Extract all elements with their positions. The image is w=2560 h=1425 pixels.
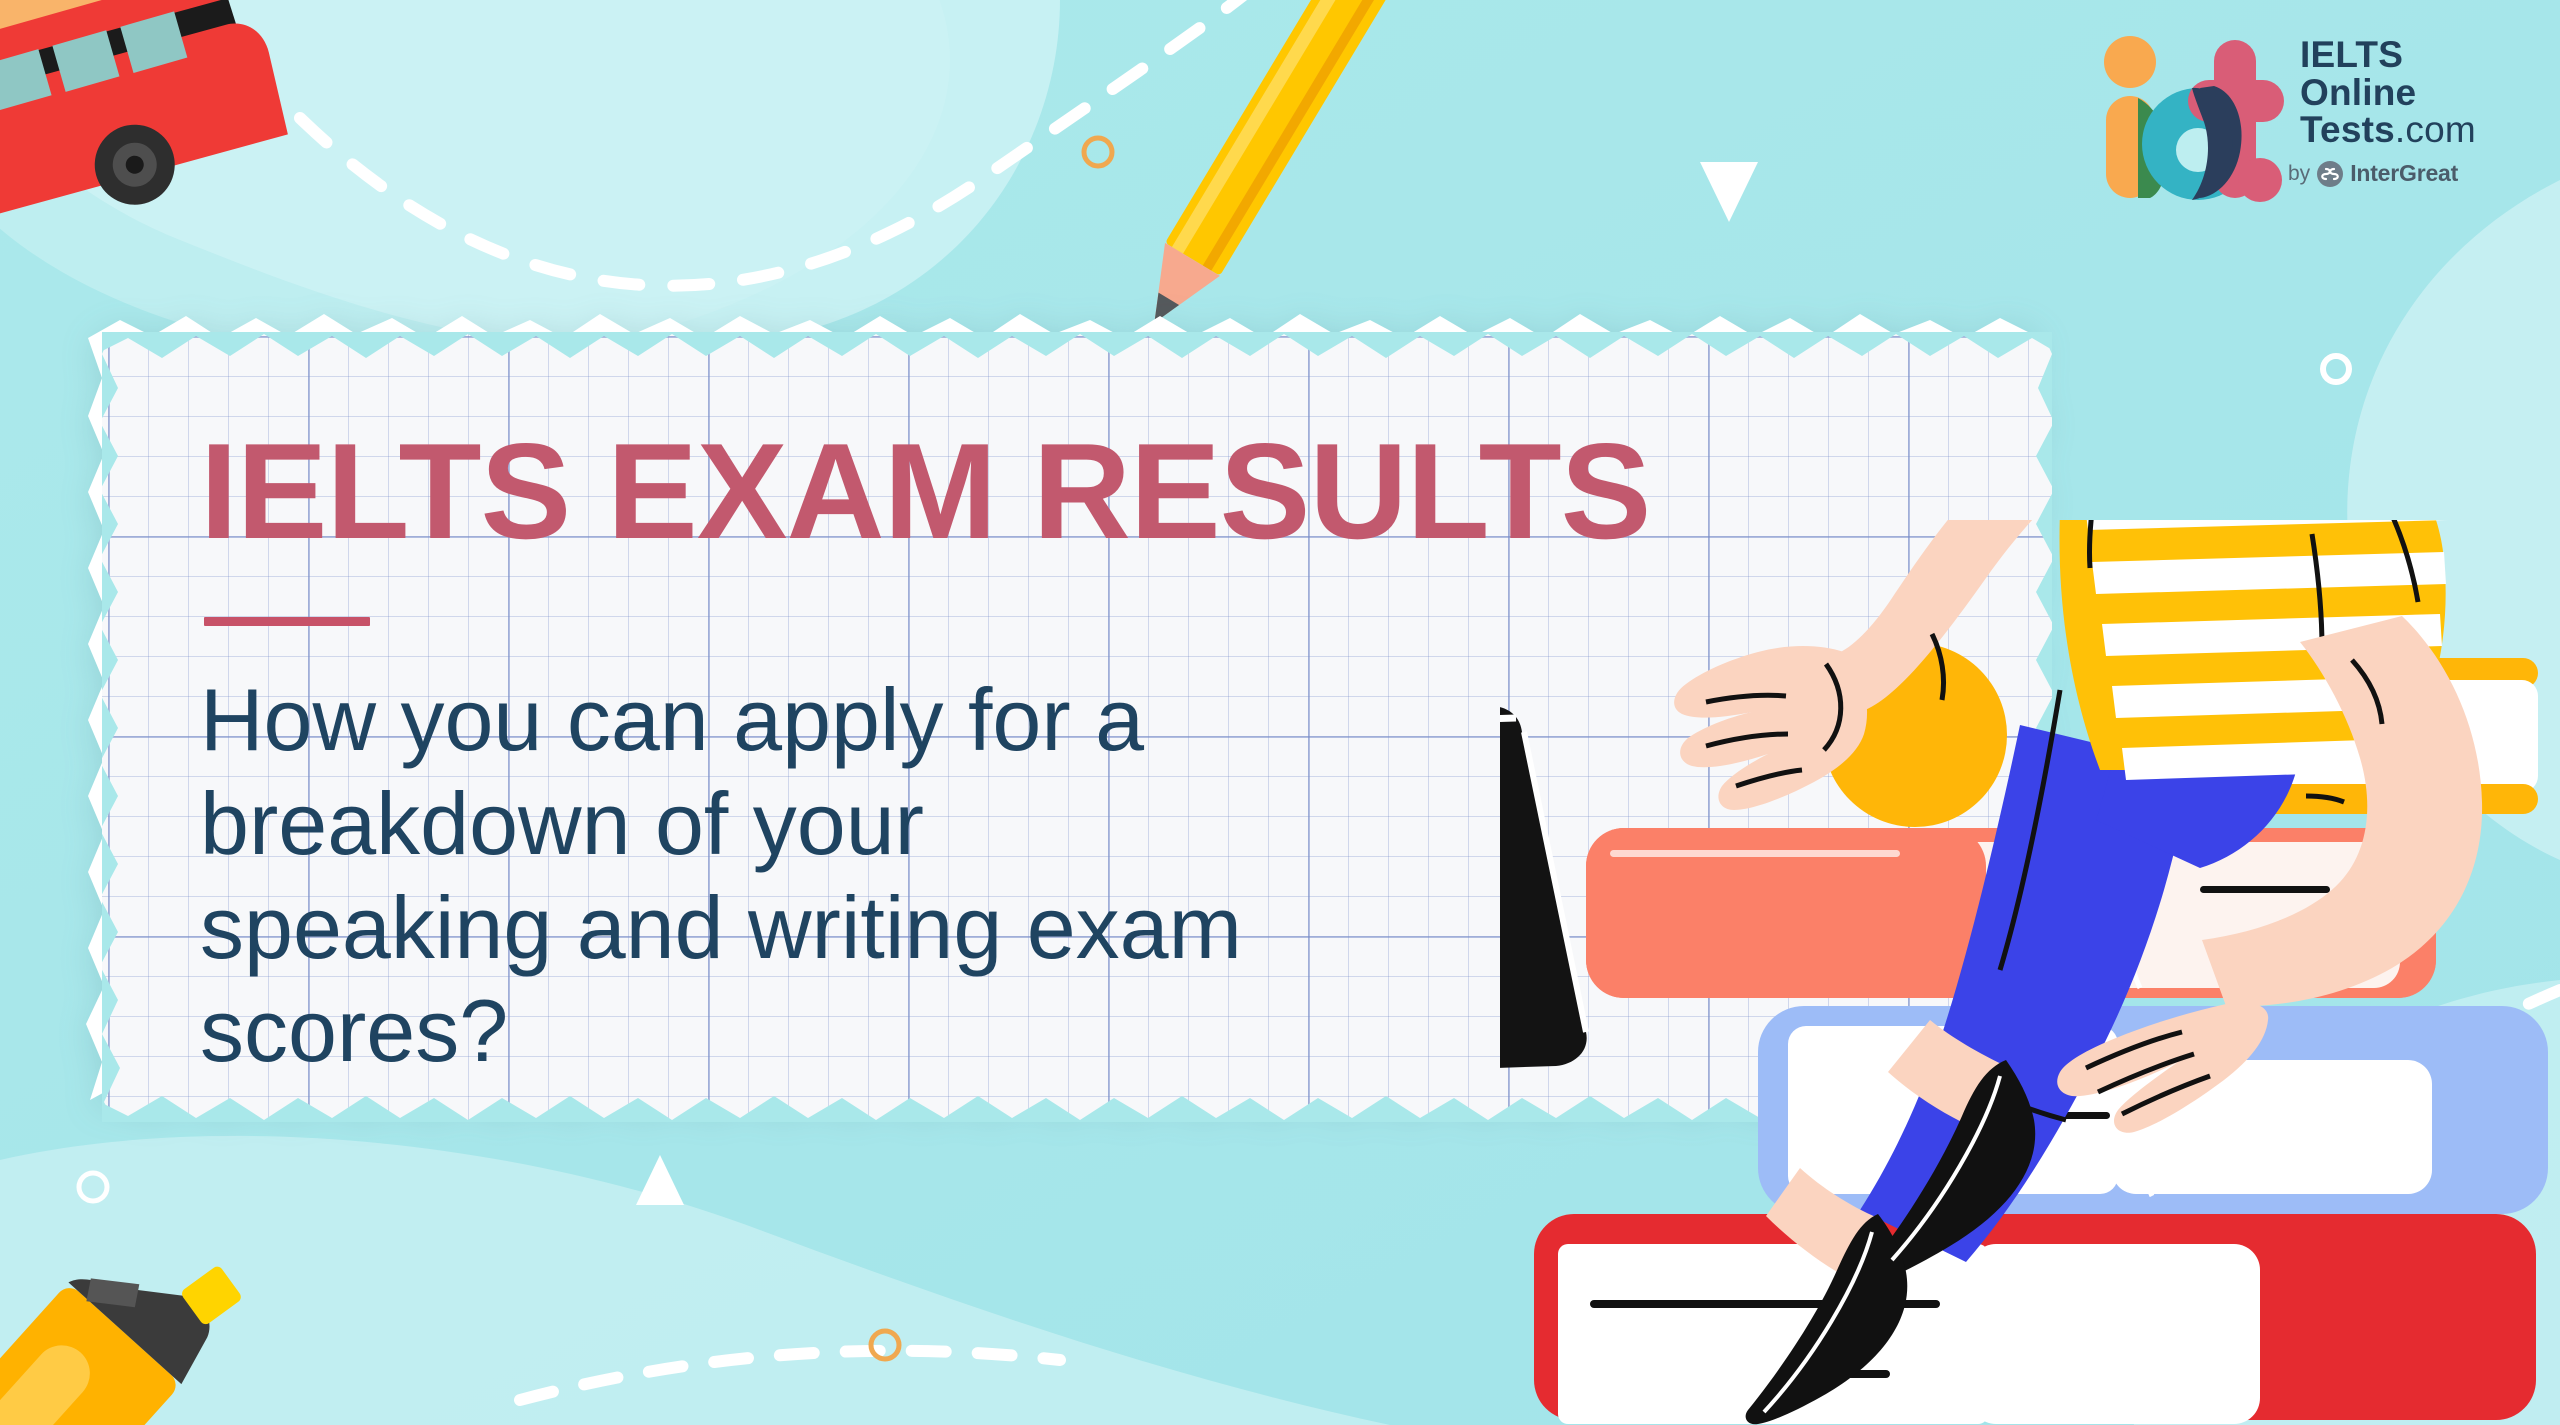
brand-wordmark: IELTS Online Tests.com	[2300, 36, 2476, 149]
by-label: by	[2288, 162, 2310, 186]
brand-logo[interactable]: IELTS Online Tests.com by InterGreat	[2088, 28, 2540, 158]
logo-dotcom: .com	[2395, 109, 2476, 150]
iot-logo-mark-icon	[2088, 28, 2284, 206]
logo-line-online: Online	[2300, 74, 2476, 112]
intergreat-label: InterGreat	[2350, 160, 2458, 187]
laptop	[1500, 706, 1587, 1076]
man-with-laptop-illustration	[1500, 520, 2560, 1425]
poster-canvas: IELTS EXAM RESULTS How you can apply for…	[0, 0, 2560, 1425]
book-red	[1534, 1214, 2536, 1424]
intergreat-mark-icon	[2317, 161, 2343, 187]
logo-line-ielts: IELTS	[2300, 36, 2476, 74]
page-subtitle: How you can apply for a breakdown of you…	[200, 668, 1300, 1083]
title-divider	[204, 617, 370, 626]
logo-line-tests: Tests.com	[2300, 111, 2476, 149]
page-title: IELTS EXAM RESULTS	[200, 423, 1650, 559]
by-intergreat: by InterGreat	[2288, 160, 2458, 187]
